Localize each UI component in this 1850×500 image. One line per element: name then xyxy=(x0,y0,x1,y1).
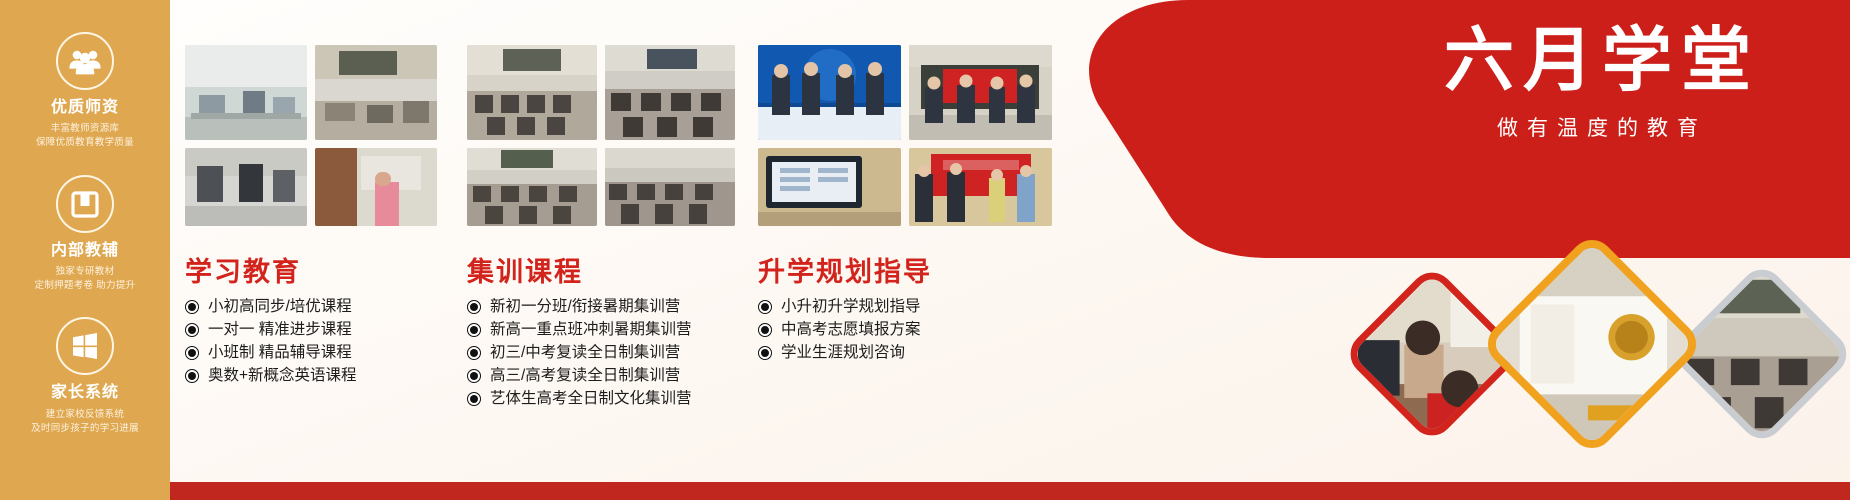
school-award-photo-2 xyxy=(909,45,1052,140)
people-group-icon xyxy=(56,32,114,90)
list-item: 一对一 精准进步课程 xyxy=(185,322,357,338)
list-item-label: 高三/高考复读全日制集训营 xyxy=(490,368,680,384)
sidebar-feature-parent-system: 家长系统 建立家校反馈系统 及时同步孩子的学习进展 xyxy=(0,317,170,436)
list-item: 小班制 精品辅导课程 xyxy=(185,345,357,361)
bullet-dot-icon xyxy=(185,300,199,314)
photo-group-1 xyxy=(185,45,437,234)
sidebar-feature-desc-line1: 建立家校反馈系统 xyxy=(46,409,124,420)
page-title: 六月学堂 xyxy=(1392,24,1812,98)
list-item-label: 中高考志愿填报方案 xyxy=(781,322,921,338)
list-item-label: 新高一重点班冲刺暑期集训营 xyxy=(490,322,692,338)
window-grid-icon xyxy=(56,317,114,375)
list-item-label: 奥数+新概念英语课程 xyxy=(208,368,357,384)
classroom-students-photo-1 xyxy=(185,45,307,140)
sidebar-feature-desc-line2: 保障优质教育教学质量 xyxy=(36,137,134,148)
list-item: 初三/中考复读全日制集训营 xyxy=(467,345,692,361)
sidebar-feature-desc: 独家专研教材 定制押题考卷 助力提升 xyxy=(0,265,170,294)
campus-lobby-diamond-photo xyxy=(1479,231,1705,457)
promo-banner: 优质师资 丰富教师资源库 保障优质教育教学质量 内部教辅 独家专研教材 定制押题… xyxy=(0,0,1850,500)
bullet-dot-icon xyxy=(758,300,772,314)
main-content: 学习教育 小初高同步/培优课程 一对一 精准进步课程 小班制 精品辅导课程 奥数… xyxy=(170,0,1850,500)
list-item: 中高考志愿填报方案 xyxy=(758,322,932,338)
sidebar-feature-desc-line2: 定制押题考卷 助力提升 xyxy=(35,280,136,291)
stage-event-photo-1 xyxy=(758,45,901,140)
section-admission-planning: 升学规划指导 小升初升学规划指导 中高考志愿填报方案 学业生涯规划咨询 xyxy=(758,250,932,368)
photo-group-3 xyxy=(758,45,1052,234)
tutoring-desk-photo-3 xyxy=(185,148,307,226)
list-item: 小初高同步/培优课程 xyxy=(185,299,357,315)
classroom-projector-photo-2 xyxy=(605,45,735,140)
section-intensive-courses: 集训课程 新初一分班/衔接暑期集训营 新高一重点班冲刺暑期集训营 初三/中考复读… xyxy=(467,250,692,414)
section-title: 学习教育 xyxy=(185,250,357,289)
sidebar-feature-teachers: 优质师资 丰富教师资源库 保障优质教育教学质量 xyxy=(0,32,170,151)
ceremony-photo-4 xyxy=(909,148,1052,226)
bullet-dot-icon xyxy=(467,346,481,360)
bullet-dot-icon xyxy=(185,323,199,337)
list-item: 高三/高考复读全日制集训营 xyxy=(467,368,692,384)
sidebar-feature-desc: 丰富教师资源库 保障优质教育教学质量 xyxy=(0,122,170,151)
study-room-photo-3 xyxy=(467,148,597,226)
bullet-dot-icon xyxy=(467,369,481,383)
teacher-whiteboard-photo-4 xyxy=(315,148,437,226)
bullet-dot-icon xyxy=(467,323,481,337)
bottom-accent-bar xyxy=(170,482,1850,500)
section-title: 升学规划指导 xyxy=(758,250,932,289)
list-item-label: 学业生涯规划咨询 xyxy=(781,345,905,361)
sidebar-feature-title: 优质师资 xyxy=(0,98,170,117)
list-item-label: 小初高同步/培优课程 xyxy=(208,299,352,315)
list-item: 新初一分班/衔接暑期集训营 xyxy=(467,299,692,315)
bullet-dot-icon xyxy=(185,369,199,383)
section-bullet-list: 小初高同步/培优课程 一对一 精准进步课程 小班制 精品辅导课程 奥数+新概念英… xyxy=(185,299,357,384)
sidebar-feature-title: 家长系统 xyxy=(0,383,170,402)
sidebar-feature-materials: 内部教辅 独家专研教材 定制押题考卷 助力提升 xyxy=(0,175,170,294)
sidebar-feature-desc-line1: 丰富教师资源库 xyxy=(51,123,120,134)
section-bullet-list: 新初一分班/衔接暑期集训营 新高一重点班冲刺暑期集训营 初三/中考复读全日制集训… xyxy=(467,299,692,407)
sidebar-feature-title: 内部教辅 xyxy=(0,241,170,260)
list-item-label: 一对一 精准进步课程 xyxy=(208,322,352,338)
section-bullet-list: 小升初升学规划指导 中高考志愿填报方案 学业生涯规划咨询 xyxy=(758,299,932,361)
brand-block: 六月学堂 做有温度的教育 xyxy=(1392,24,1812,142)
list-item-label: 新初一分班/衔接暑期集训营 xyxy=(490,299,680,315)
list-item: 新高一重点班冲刺暑期集训营 xyxy=(467,322,692,338)
bullet-dot-icon xyxy=(758,323,772,337)
bullet-dot-icon xyxy=(185,346,199,360)
list-item: 小升初升学规划指导 xyxy=(758,299,932,315)
smartboard-photo-3 xyxy=(758,148,901,226)
exam-room-photo-4 xyxy=(605,148,735,226)
list-item: 学业生涯规划咨询 xyxy=(758,345,932,361)
bullet-dot-icon xyxy=(467,392,481,406)
list-item: 艺体生高考全日制文化集训营 xyxy=(467,391,692,407)
classroom-diamond-photo xyxy=(1669,261,1850,448)
list-item-label: 初三/中考复读全日制集训营 xyxy=(490,345,680,361)
sidebar-feature-desc-line2: 及时同步孩子的学习进展 xyxy=(31,423,139,434)
classroom-teaching-photo-2 xyxy=(315,45,437,140)
bullet-dot-icon xyxy=(758,346,772,360)
bullet-dot-icon xyxy=(467,300,481,314)
brand-subtitle: 做有温度的教育 xyxy=(1392,112,1812,142)
open-book-icon xyxy=(56,175,114,233)
sidebar-feature-desc-line1: 独家专研教材 xyxy=(56,266,115,277)
lecture-hall-photo-1 xyxy=(467,45,597,140)
photo-group-2 xyxy=(467,45,735,234)
sidebar-feature-desc: 建立家校反馈系统 及时同步孩子的学习进展 xyxy=(0,408,170,437)
diamond-photo-group xyxy=(1362,248,1832,478)
list-item-label: 小升初升学规划指导 xyxy=(781,299,921,315)
list-item: 奥数+新概念英语课程 xyxy=(185,368,357,384)
features-sidebar: 优质师资 丰富教师资源库 保障优质教育教学质量 内部教辅 独家专研教材 定制押题… xyxy=(0,0,170,500)
section-title: 集训课程 xyxy=(467,250,692,289)
section-study-education: 学习教育 小初高同步/培优课程 一对一 精准进步课程 小班制 精品辅导课程 奥数… xyxy=(185,250,357,391)
list-item-label: 艺体生高考全日制文化集训营 xyxy=(490,391,692,407)
list-item-label: 小班制 精品辅导课程 xyxy=(208,345,352,361)
